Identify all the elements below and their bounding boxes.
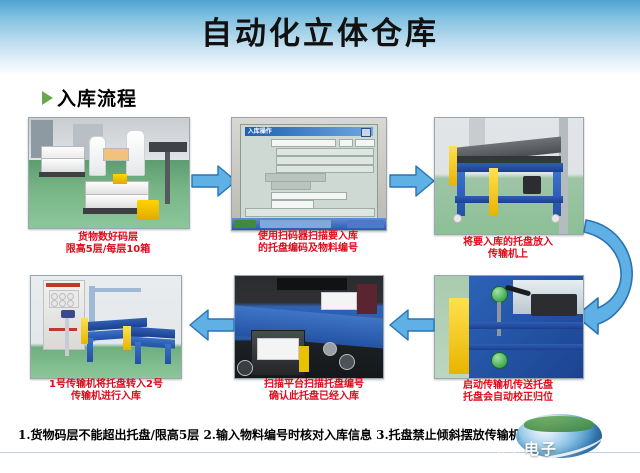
form-field-7[interactable] bbox=[271, 192, 347, 201]
section-heading: 入库流程 bbox=[42, 84, 137, 111]
system-tray[interactable] bbox=[347, 220, 384, 229]
rod bbox=[497, 302, 501, 336]
caption-step-5: 扫描平台扫描托盘编号 确认此托盘已经入库 bbox=[226, 379, 402, 403]
section-heading-label: 入库流程 bbox=[57, 84, 137, 111]
arrow-left-icon-1 bbox=[388, 307, 436, 343]
frame-leg-left bbox=[457, 172, 465, 216]
machine-mechanism bbox=[531, 294, 577, 316]
roller-3 bbox=[237, 360, 253, 376]
photo-scene bbox=[29, 118, 189, 228]
yellow-post-mid bbox=[489, 168, 498, 216]
equipment-post bbox=[165, 152, 170, 204]
photo-scene bbox=[235, 276, 383, 378]
photo-pallet-on-conveyor bbox=[434, 117, 584, 235]
cabinet-indicator-1 bbox=[51, 293, 58, 300]
watermark-logo: 九工 电子 bbox=[490, 414, 634, 470]
frame-cross-rail bbox=[455, 196, 563, 203]
caster-left bbox=[453, 214, 462, 223]
form-field-3[interactable] bbox=[276, 156, 374, 165]
yellow-post-2 bbox=[123, 326, 131, 350]
form-button-2[interactable] bbox=[355, 139, 375, 148]
cabinet-indicator-6 bbox=[67, 300, 74, 307]
photo-scan-platform bbox=[234, 275, 384, 379]
caption-step-4: 启动传输机传送托盘 托盘会自动校正归位 bbox=[420, 380, 596, 404]
green-arrow-bullet-icon bbox=[42, 91, 53, 105]
carried-box bbox=[103, 148, 129, 161]
arrow-left-icon-2 bbox=[188, 307, 236, 343]
close-icon[interactable] bbox=[361, 128, 371, 137]
red-panel bbox=[357, 284, 377, 314]
cabinet-indicator-4 bbox=[51, 300, 58, 307]
page-title: 自动化立体仓库 bbox=[0, 8, 640, 53]
pallet-jack-handle bbox=[113, 174, 127, 184]
deck-edge bbox=[457, 156, 561, 163]
scanner-label bbox=[257, 338, 299, 360]
frame-rail bbox=[469, 322, 583, 329]
photo-start-conveyor bbox=[434, 275, 584, 379]
photo-scene bbox=[31, 276, 181, 378]
cabinet-top-stripe bbox=[46, 283, 80, 287]
photo-scene bbox=[435, 276, 583, 378]
monitor-screen: 入库操作 bbox=[240, 124, 379, 219]
sensor-head bbox=[61, 310, 75, 318]
start-button[interactable] bbox=[234, 220, 256, 229]
taskbar-item[interactable] bbox=[260, 220, 331, 229]
dialog-title: 入库操作 bbox=[248, 126, 272, 135]
caption-step-1: 货物数好码层 限高5层/每层10箱 bbox=[20, 232, 196, 256]
caption-step-3: 将要入库的托盘放入 传输机上 bbox=[420, 237, 596, 261]
roller-1 bbox=[323, 342, 337, 356]
frame-top-rail bbox=[455, 163, 563, 172]
caster-right bbox=[551, 214, 560, 223]
caption-step-6: 1号传输机将托盘转入2号 传输机进行入库 bbox=[14, 379, 198, 403]
equipment-top bbox=[149, 142, 187, 152]
photo-scanner-terminal: 入库操作 bbox=[231, 117, 387, 231]
caption-step-2: 使用扫码器扫描要入库 的托盘编码及物料编号 bbox=[222, 231, 394, 255]
motor-box bbox=[523, 176, 541, 194]
photo-conveyor-transfer bbox=[30, 275, 182, 379]
form-field-1[interactable] bbox=[271, 139, 336, 148]
yellow-post bbox=[449, 298, 469, 374]
dialog-titlebar: 入库操作 bbox=[245, 127, 373, 135]
slide-root: 自动化立体仓库 入库流程 货物 bbox=[0, 0, 640, 473]
form-field-5[interactable] bbox=[265, 173, 326, 182]
chain-track bbox=[277, 278, 347, 290]
cabinet-indicator-2 bbox=[59, 293, 66, 300]
watermark-subtext: 九工 bbox=[494, 442, 522, 461]
pallet-rear bbox=[39, 172, 85, 177]
yellow-post-1 bbox=[81, 318, 88, 344]
frame-leg-right bbox=[553, 172, 561, 216]
wall-stripe-horiz bbox=[89, 288, 141, 292]
yellow-post-left bbox=[449, 146, 457, 186]
form-field-4[interactable] bbox=[276, 165, 374, 174]
roller-2 bbox=[339, 354, 355, 370]
cabinet-indicator-5 bbox=[59, 300, 66, 307]
watermark-text: 电子 bbox=[524, 438, 558, 459]
stand-pole bbox=[65, 314, 69, 356]
conveyor-leg-3 bbox=[165, 344, 171, 364]
taskbar bbox=[232, 218, 386, 230]
conveyor-leg-2 bbox=[135, 342, 141, 364]
cabinet-indicator-3 bbox=[67, 293, 74, 300]
form-field-6[interactable] bbox=[271, 181, 311, 190]
arrow-right-icon-2 bbox=[388, 163, 436, 199]
equipment-label-1 bbox=[321, 292, 357, 310]
photo-scene bbox=[435, 118, 583, 234]
photo-stacking-goods bbox=[28, 117, 190, 229]
form-button-1[interactable] bbox=[339, 139, 353, 148]
green-button-bottom[interactable] bbox=[491, 352, 508, 369]
pallet-jack bbox=[137, 200, 159, 220]
frame-rail-lower bbox=[469, 344, 583, 350]
form-button-bar[interactable] bbox=[245, 208, 375, 217]
cabinet-lower-stripe bbox=[49, 328, 77, 331]
form-field-2[interactable] bbox=[276, 148, 374, 157]
form-field-8[interactable] bbox=[271, 200, 314, 209]
warning-sticker bbox=[299, 346, 309, 372]
